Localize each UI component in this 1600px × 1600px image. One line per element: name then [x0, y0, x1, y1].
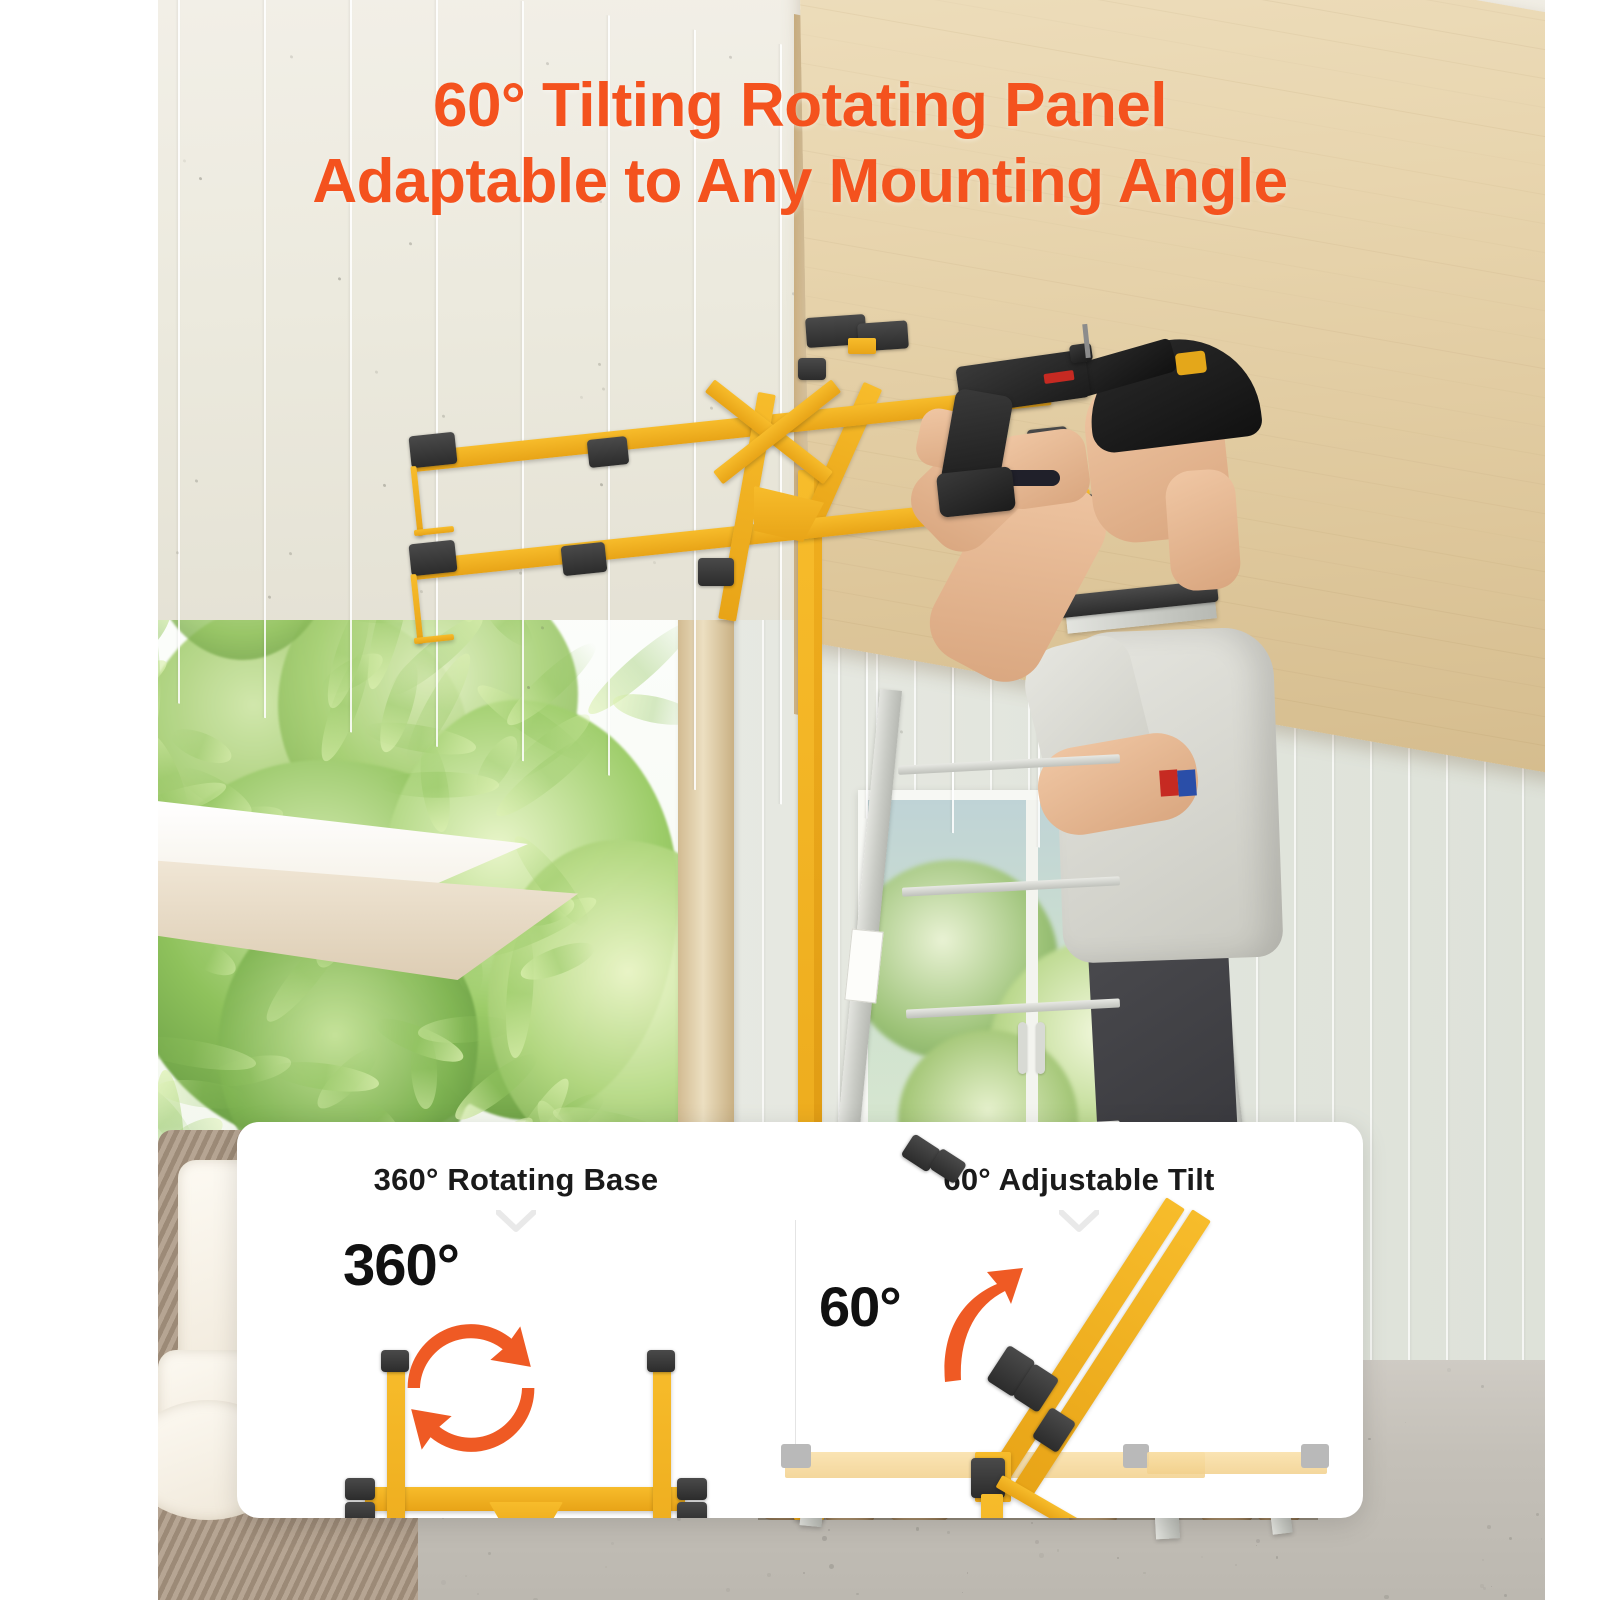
tilt-arrow-icon: [915, 1262, 1035, 1397]
feature-title-rotating-base: 360° Rotating Base: [237, 1162, 795, 1198]
rotation-arrows-icon: [383, 1300, 559, 1476]
diagram-tilt-mast: [981, 1494, 1003, 1518]
diagram-arm-right: [653, 1360, 671, 1518]
tool-cap-arm-upper-left: [408, 432, 457, 469]
diagram-cap-ml: [345, 1478, 375, 1500]
tool-cap-top-mid: [798, 358, 826, 380]
diagram-ghost-arm-right: [1147, 1452, 1327, 1474]
tool-cap-arm-lower-left: [408, 540, 457, 577]
tool-top-plate: [848, 338, 876, 354]
diagram-tilt-brace: [996, 1475, 1098, 1518]
shirt-logo-red: [1159, 769, 1179, 796]
headline-line-2: Adaptable to Any Mounting Angle: [0, 144, 1600, 220]
badge-60: 60°: [819, 1274, 901, 1339]
diagram-cap-mr: [677, 1478, 707, 1500]
headline-line-1: 60° Tilting Rotating Panel: [433, 71, 1167, 140]
chevron-down-icon-2: [1059, 1210, 1099, 1237]
headline: 60° Tilting Rotating Panel Adaptable to …: [0, 68, 1600, 221]
diagram-pivot-cone: [489, 1502, 563, 1518]
diagram-cap-ml2: [345, 1502, 375, 1518]
feature-card: 360° Rotating Base 360°: [237, 1122, 1363, 1518]
diagram-ghost-cap-right: [1301, 1444, 1329, 1468]
tool-cap-mid-2: [587, 436, 630, 468]
worker-cap-logo: [1175, 350, 1207, 375]
shirt-logo-blue: [1177, 769, 1197, 796]
diagram-cap-mr2: [677, 1502, 707, 1518]
product-feature-image: 60° Tilting Rotating Panel Adaptable to …: [0, 0, 1600, 1600]
feature-column-rotating-base: 360° Rotating Base 360°: [237, 1122, 795, 1518]
worker-neck: [1164, 468, 1242, 593]
diagram-ghost-cap-mid: [1123, 1444, 1149, 1468]
tool-cap-mid: [561, 542, 608, 576]
badge-360: 360°: [343, 1232, 459, 1299]
diagram-cap-tr: [647, 1350, 675, 1372]
feature-column-adjustable-tilt: 60° Adjustable Tilt 60°: [795, 1122, 1363, 1518]
drill-battery: [936, 466, 1016, 518]
feature-title-adjustable-tilt: 60° Adjustable Tilt: [795, 1162, 1363, 1198]
tool-cap-yoke: [698, 558, 734, 586]
chevron-down-icon: [496, 1210, 536, 1237]
diagram-ghost-cap-left: [781, 1444, 811, 1468]
